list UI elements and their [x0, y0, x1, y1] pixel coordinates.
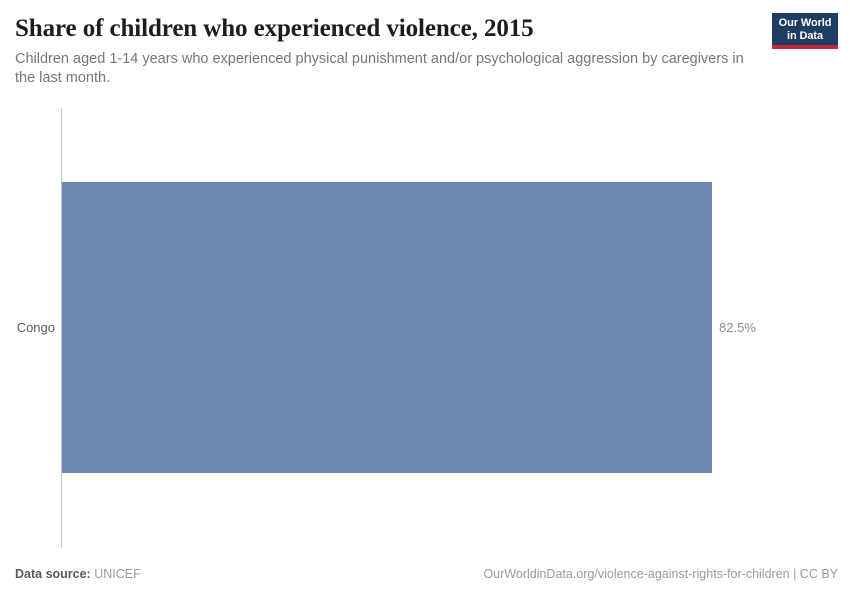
data-source-label: Data source:: [15, 567, 91, 581]
owid-logo-line-1: Our World: [775, 17, 835, 30]
attribution-link[interactable]: OurWorldinData.org/violence-against-righ…: [483, 567, 838, 581]
chart-container: Share of children who experienced violen…: [0, 0, 850, 600]
bar-track: 82.5%: [62, 182, 850, 473]
owid-logo-line-2: in Data: [775, 30, 835, 43]
bar-congo[interactable]: [62, 182, 712, 473]
owid-logo[interactable]: Our World in Data: [772, 13, 838, 49]
data-source-value: UNICEF: [94, 567, 141, 581]
chart-header: Share of children who experienced violen…: [15, 14, 760, 88]
chart-footer: Data source: UNICEF OurWorldinData.org/v…: [15, 566, 838, 582]
chart-title: Share of children who experienced violen…: [15, 14, 760, 43]
bar-row-congo: Congo 82.5%: [0, 182, 850, 473]
bar-value-label: 82.5%: [712, 182, 756, 473]
plot-area: Congo 82.5%: [0, 100, 850, 555]
bar-category-label: Congo: [0, 182, 55, 473]
data-source: Data source: UNICEF: [15, 567, 141, 581]
chart-subtitle: Children aged 1-14 years who experienced…: [15, 50, 745, 88]
